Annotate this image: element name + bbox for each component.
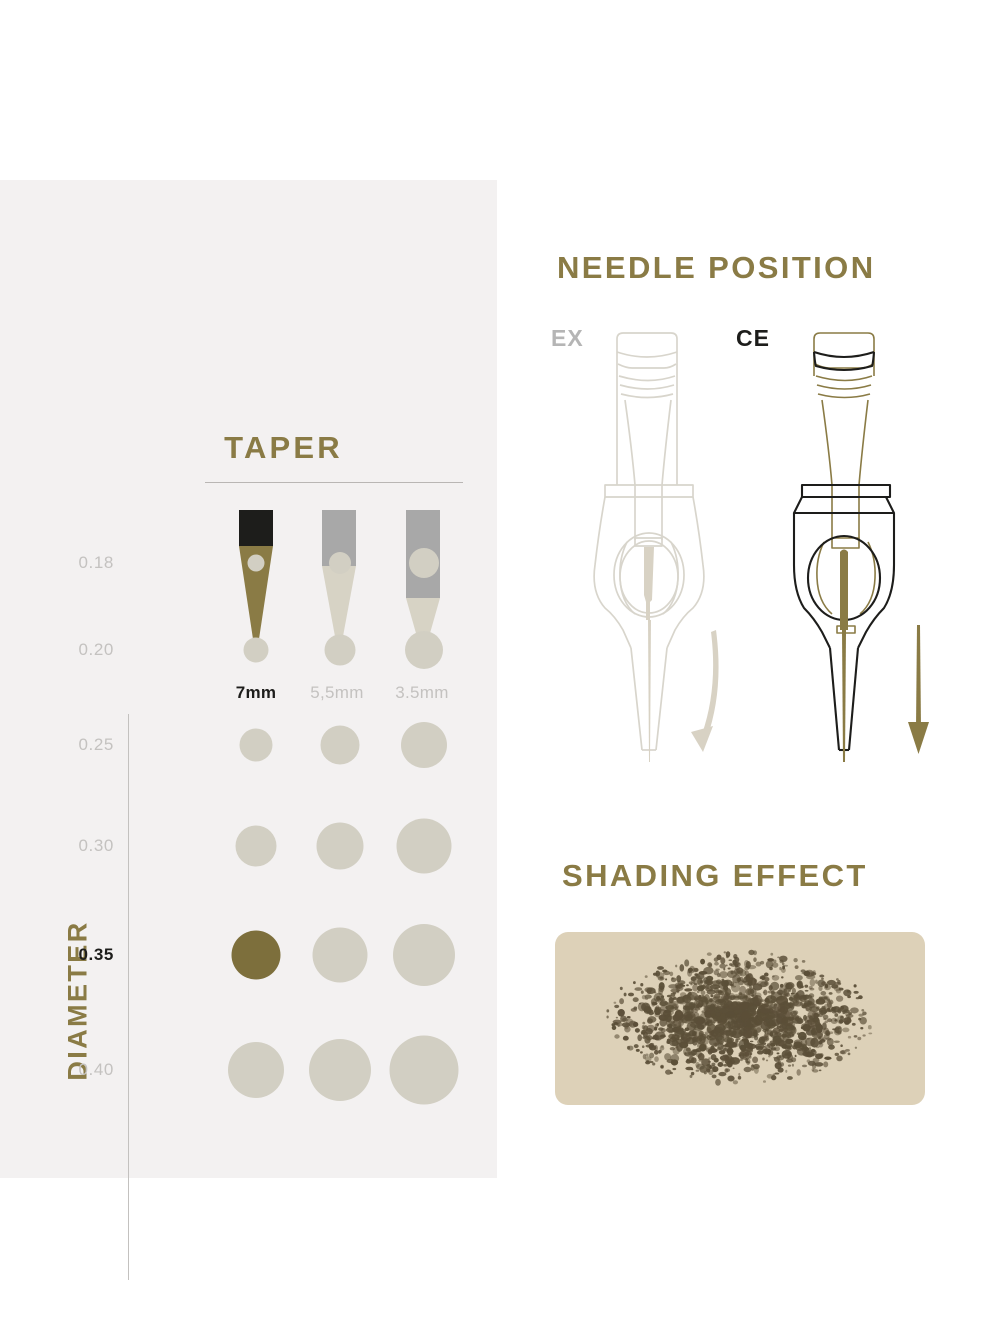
cartridge-ce-needle — [840, 550, 848, 763]
cartridge-ex-needle — [644, 547, 654, 762]
diameter-dot — [236, 826, 277, 867]
taper-diameter-panel: TAPER 7mm 5,5mm 3.5mm DIAMETER 0.180.20 — [0, 180, 497, 1178]
diameter-row-label: 0.25 — [42, 735, 114, 755]
diameter-dot — [390, 1036, 459, 1105]
diameter-dot — [321, 726, 360, 765]
diameter-dot — [313, 928, 368, 983]
diameter-dot — [405, 631, 443, 669]
shading-effect-title: SHADING EFFECT — [562, 858, 868, 894]
diameter-dot — [393, 924, 455, 986]
diameter-dot-grid: 0.180.200.250.300.350.40 — [0, 180, 497, 1178]
cartridge-diagram-ce — [772, 330, 962, 785]
diameter-dot — [309, 1039, 371, 1101]
diameter-dot — [409, 548, 439, 578]
arrow-ce-icon — [908, 625, 929, 754]
needle-position-title: NEEDLE POSITION — [557, 250, 875, 286]
arrow-ex-icon — [691, 630, 719, 752]
diameter-dot — [240, 729, 273, 762]
diameter-dot — [397, 819, 452, 874]
diameter-row-label: 0.35 — [42, 945, 114, 965]
shading-effect-swatch — [555, 932, 925, 1105]
diameter-dot — [401, 722, 447, 768]
diameter-dot — [232, 931, 281, 980]
diameter-dot — [248, 555, 265, 572]
cartridge-ce-svg — [772, 330, 962, 780]
diameter-row-label: 0.30 — [42, 836, 114, 856]
diameter-dot — [244, 638, 269, 663]
cartridge-diagram-ex — [575, 330, 765, 785]
diameter-dot — [329, 552, 351, 574]
diameter-dot — [325, 635, 356, 666]
diameter-row-label: 0.20 — [42, 640, 114, 660]
diameter-row-label: 0.40 — [42, 1060, 114, 1080]
cartridge-ex-svg — [575, 330, 765, 780]
diameter-dot — [317, 823, 364, 870]
diameter-row-label: 0.18 — [42, 553, 114, 573]
diameter-dot — [228, 1042, 284, 1098]
infographic-stage: TAPER 7mm 5,5mm 3.5mm DIAMETER 0.180.20 — [0, 0, 1000, 1333]
shading-speckle-texture — [555, 932, 925, 1105]
